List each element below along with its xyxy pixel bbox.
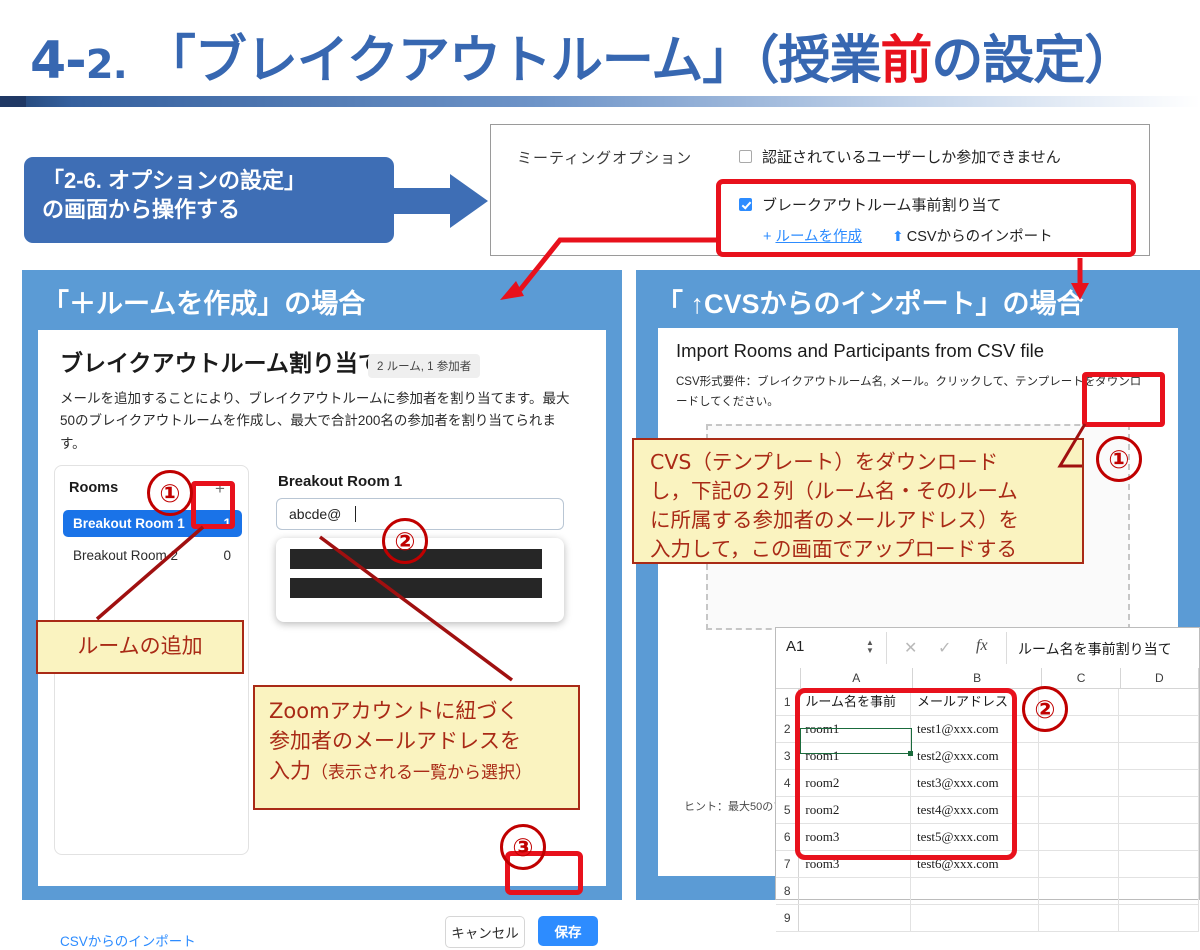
cell[interactable] <box>1119 689 1199 715</box>
cell[interactable] <box>1119 824 1199 850</box>
grid-corner[interactable] <box>776 668 801 688</box>
cell[interactable] <box>1039 743 1119 769</box>
step-number-3-left: ③ <box>500 824 546 870</box>
cell[interactable] <box>1119 797 1199 823</box>
page-title-paren-after: の設定） <box>931 31 1135 91</box>
room-list-item[interactable]: Breakout Room 2 0 <box>63 542 242 569</box>
note-email-line3-small: （表示される一覧から選択） <box>311 763 532 783</box>
room-participant-count: 0 <box>223 548 231 563</box>
highlight-csv-table <box>795 688 1017 860</box>
page-title-bracket: 「ブレイクアウトルーム」 <box>144 31 753 91</box>
cell[interactable] <box>799 878 911 904</box>
right-panel-heading: 「 ↑CVSからのインポート」の場合 <box>656 282 1084 321</box>
room-name: Breakout Room 2 <box>73 548 178 563</box>
cell[interactable] <box>1119 851 1199 877</box>
cell[interactable] <box>1119 743 1199 769</box>
cell[interactable] <box>799 905 911 931</box>
cancel-icon[interactable]: ✕ <box>904 638 917 658</box>
text-caret <box>355 506 356 522</box>
step-callout-line1: 「2-6. オプションの設定」 <box>42 168 306 193</box>
room-name: Breakout Room 1 <box>73 516 185 531</box>
breakout-highlight-box <box>716 179 1136 257</box>
formula-bar-divider <box>886 632 887 664</box>
cell[interactable] <box>1119 878 1199 904</box>
highlight-download-link <box>1082 372 1165 427</box>
excel-formula-bar: A1 ▲▼ ✕ ✓ fx ルーム名を事前割り当て <box>776 628 1199 669</box>
note-add-room: ルームの追加 <box>36 620 244 674</box>
auth-checkbox[interactable] <box>739 150 752 163</box>
auth-option-label: 認証されているユーザーしか参加できません <box>762 146 1061 167</box>
note-email-line2: 参加者のメールアドレスを <box>269 727 578 757</box>
row-header[interactable]: 9 <box>776 905 799 931</box>
column-header-row: A B C D <box>776 668 1199 689</box>
step-callout-line2: の画面から操作する <box>42 195 380 224</box>
auth-option-row[interactable]: 認証されているユーザーしか参加できません <box>739 146 1061 167</box>
table-row[interactable]: 9 <box>776 905 1199 932</box>
note-csv-line1: CVS（テンプレート）をダウンロード <box>650 448 1082 477</box>
note-csv-template: CVS（テンプレート）をダウンロード し，下記の２列（ルーム名・そのルーム に所… <box>632 438 1084 564</box>
column-header[interactable]: A <box>801 668 913 688</box>
cell[interactable] <box>911 878 1039 904</box>
note-email-line1: Zoomアカウントに紐づく <box>269 697 578 727</box>
dialog-csv-import-link[interactable]: CSVからのインポート <box>60 930 196 950</box>
page-title-accent: 前 <box>880 31 931 91</box>
cancel-button[interactable]: キャンセル <box>445 916 525 948</box>
breakout-dialog-title: ブレイクアウトルーム割り当て <box>60 344 381 378</box>
step-number-2-left: ② <box>382 518 428 564</box>
page-title: 4-2. 「ブレイクアウトルーム」（授業前の設定） <box>30 18 1135 93</box>
check-icon[interactable]: ✓ <box>938 638 951 658</box>
row-header[interactable]: 8 <box>776 878 799 904</box>
name-box-spinner-icon[interactable]: ▲▼ <box>864 636 876 658</box>
cell[interactable] <box>911 905 1039 931</box>
title-divider-cap <box>0 96 26 107</box>
csv-format-description: CSV形式要件：ブレイクアウトルーム名, メール。クリックして、テンプレートをダ… <box>676 372 1146 412</box>
step-number-1-left: ① <box>147 470 193 516</box>
selected-room-title: Breakout Room 1 <box>278 473 402 490</box>
suggestion-item-redacted[interactable] <box>290 578 542 598</box>
excel-name-box[interactable]: A1 <box>786 638 804 655</box>
cell[interactable] <box>1039 770 1119 796</box>
slide-root: 4-2. 「ブレイクアウトルーム」（授業前の設定） 「2-6. オプションの設定… <box>0 0 1200 900</box>
page-title-sub: 2. <box>86 42 127 88</box>
rooms-list-header: Rooms <box>69 480 118 496</box>
highlight-add-room <box>191 481 235 529</box>
note-csv-line2: し，下記の２列（ルーム名・そのルーム <box>650 477 1082 506</box>
save-button[interactable]: 保存 <box>538 916 598 946</box>
cell[interactable] <box>1119 905 1199 931</box>
arrow-right-icon <box>380 170 490 232</box>
title-divider <box>0 96 1200 107</box>
cell[interactable] <box>1039 797 1119 823</box>
csv-import-title: Import Rooms and Participants from CSV f… <box>676 340 1044 362</box>
left-panel-heading: 「＋ルームを作成」の場合 <box>42 282 365 321</box>
step-callout: 「2-6. オプションの設定」 の画面から操作する <box>24 157 394 243</box>
cell[interactable] <box>1119 770 1199 796</box>
email-input-value: abcde@ <box>289 506 341 522</box>
note-email-line3: 入力（表示される一覧から選択） <box>269 757 578 787</box>
function-icon[interactable]: fx <box>976 637 988 655</box>
table-row[interactable]: 8 <box>776 878 1199 905</box>
step-number-2-right: ② <box>1022 686 1068 732</box>
column-header[interactable]: B <box>913 668 1043 688</box>
cell[interactable] <box>1039 851 1119 877</box>
formula-bar-content[interactable]: ルーム名を事前割り当て <box>1018 639 1172 659</box>
note-csv-line4: 入力して，この画面でアップロードする <box>650 535 1082 564</box>
note-email-line3-main: 入力 <box>269 759 311 783</box>
meeting-options-label: ミーティングオプション <box>517 147 692 168</box>
formula-bar-divider <box>1006 632 1007 664</box>
room-count-badge: 2 ルーム, 1 参加者 <box>368 354 480 378</box>
note-csv-line3: に所属する参加者のメールアドレス）を <box>650 506 1082 535</box>
column-header[interactable]: D <box>1121 668 1199 688</box>
breakout-dialog-description: メールを追加することにより、ブレイクアウトルームに参加者を割り当てます。最大50… <box>60 388 580 455</box>
cell[interactable] <box>1039 824 1119 850</box>
column-header[interactable]: C <box>1042 668 1120 688</box>
cell[interactable] <box>1039 878 1119 904</box>
cell[interactable] <box>1119 716 1199 742</box>
page-title-paren-before: （授業 <box>753 31 880 91</box>
note-email-input: Zoomアカウントに紐づく 参加者のメールアドレスを 入力（表示される一覧から選… <box>253 685 580 810</box>
step-number-1-right: ① <box>1096 436 1142 482</box>
title-area: 4-2. 「ブレイクアウトルーム」（授業前の設定） <box>0 8 1200 96</box>
cell[interactable] <box>1039 905 1119 931</box>
